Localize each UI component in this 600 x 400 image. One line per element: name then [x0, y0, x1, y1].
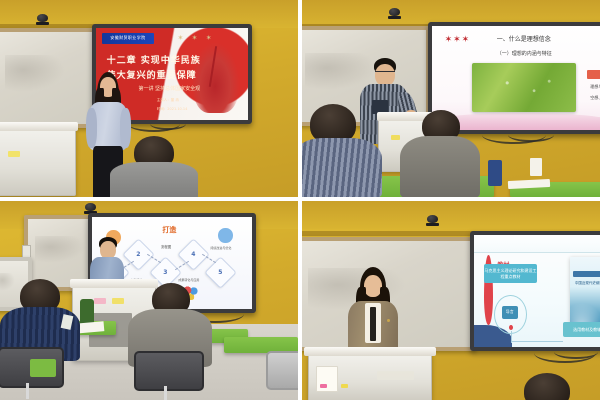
audience-member [506, 373, 586, 400]
collage-panel-top-left: 安徽财贸职业学院 ✶ ✶ ✶ 十二章 实现中华民族 伟大复兴的重要保障 第一讲 … [0, 0, 298, 197]
photo-collage: 安徽财贸职业学院 ✶ ✶ ✶ 十二章 实现中华民族 伟大复兴的重要保障 第一讲 … [0, 0, 600, 400]
camera-icon [426, 215, 439, 226]
thermos-cup [488, 160, 502, 186]
college-logo: 安徽财贸职业学院 [102, 33, 154, 44]
chair-back [266, 351, 298, 390]
collage-divider-horizontal [0, 197, 600, 201]
slide-side-tag [587, 70, 600, 79]
lectern-top [304, 347, 436, 356]
wall-rail [302, 231, 478, 236]
display-cable-2 [554, 345, 598, 359]
slide-blue-box-text: 马克思主义理论研究和建设工程重点教材 [484, 268, 537, 279]
slide-header-bar [474, 235, 600, 253]
slide-side-text-2: 空想、幻想 [590, 95, 600, 101]
chair-back [134, 351, 204, 391]
chair-seat [30, 359, 56, 377]
lectern [308, 353, 432, 400]
audience-shirt [302, 138, 382, 197]
book-title: 中国近现代史纲要 [575, 281, 600, 286]
sticky-note-pink [94, 298, 105, 304]
camera-icon [36, 14, 49, 25]
slide-chip: 导言 [502, 306, 518, 319]
book-band [573, 271, 600, 277]
slide-heading-1: 一、什么是理想信念 [497, 34, 551, 43]
slide-connector-h [511, 341, 564, 342]
slide-subtitle: 流程图 [161, 245, 172, 250]
presenter-tie [370, 307, 376, 341]
lectern-paper [316, 366, 338, 393]
slide-blue-box: 马克思主义理论研究和建设工程重点教材 [484, 264, 537, 283]
slide-title-line1: 十二章 实现中华民族 [107, 53, 201, 66]
audience-head [524, 373, 570, 400]
book-cover: 中国近现代史纲要 [570, 257, 600, 331]
display-cable-2 [508, 128, 554, 142]
slide-chip-text: 导言 [506, 309, 514, 315]
office-chair [134, 351, 200, 400]
paper-cup [530, 158, 542, 176]
slide-heading-2: （一）理想的内涵与特征 [497, 50, 552, 57]
lectern [0, 128, 76, 196]
audience-jacket [110, 162, 198, 197]
sticky-note-pink [320, 384, 327, 388]
glasses-icon [375, 71, 395, 76]
sticky-note-yellow [112, 298, 123, 304]
lapel-pin-icon [387, 319, 390, 322]
sticky-note-yellow [8, 151, 20, 157]
slide-surface: 教材 马克思主义理论研究和建设工程重点教材 导言 中国近现代史纲要 [474, 235, 600, 347]
slide-subtitle: 第一讲 坚持总体国家安全观 [139, 85, 201, 92]
display-cable-2 [150, 118, 186, 130]
slide-teal-box-text: 选用教材及教辅 [573, 327, 600, 333]
flow-connector-3-4 [175, 261, 189, 270]
office-chair [266, 351, 298, 399]
sticky-note-yellow [341, 384, 348, 388]
collage-panel-bottom-left: 打造 流程图 前期调研 1 2 3 4 5 [0, 201, 298, 400]
college-logo-text: 安徽财贸职业学院 [110, 35, 145, 41]
decor-birds: ✶ ✶ ✶ [178, 34, 215, 42]
flow-node-5-number: 5 [210, 262, 231, 283]
slide-teaching-material: 教材 马克思主义理论研究和建设工程重点教材 导言 中国近现代史纲要 [474, 235, 600, 347]
step-icon-4 [218, 228, 232, 243]
slide-title: 打造 [162, 225, 176, 235]
decor-birds: ✶✶✶ [445, 35, 471, 45]
lectern-top [0, 122, 78, 131]
slide-photo-grass [472, 63, 576, 112]
slide-presenter-line: 主讲人：董 冉 [157, 98, 179, 103]
audience-member [400, 110, 480, 197]
step-label-3: 成果转化与应用 [178, 278, 199, 282]
chair-post [26, 383, 29, 399]
lectern-control-panel [377, 371, 414, 380]
audience-member [302, 104, 382, 197]
slide-side-text-1: 理想与科学 [590, 84, 600, 90]
camera-icon [388, 8, 401, 19]
collage-panel-bottom-right: 教材 马克思主义理论研究和建设工程重点教材 导言 中国近现代史纲要 [302, 201, 600, 400]
collage-panel-top-right: ✶✶✶ 一、什么是理想信念 （一）理想的内涵与特征 理想与科学 空想、幻想 [302, 0, 600, 197]
step-label-4: 持续改进与优化 [210, 246, 231, 250]
sticky-note-yellow [391, 135, 400, 140]
slide-teal-box: 选用教材及教辅 [563, 322, 600, 337]
slide-date-line: 时间：2021.10.14 [157, 107, 188, 112]
audience-jacket [400, 136, 480, 197]
flow-node-3-number: 3 [155, 262, 176, 283]
audience-member [110, 136, 198, 197]
wall-upper-band [302, 201, 600, 229]
display-screen: 教材 马克思主义理论研究和建设工程重点教材 导言 中国近现代史纲要 [470, 231, 600, 351]
presenter-arm-left [86, 108, 97, 148]
chair-post [164, 386, 167, 400]
